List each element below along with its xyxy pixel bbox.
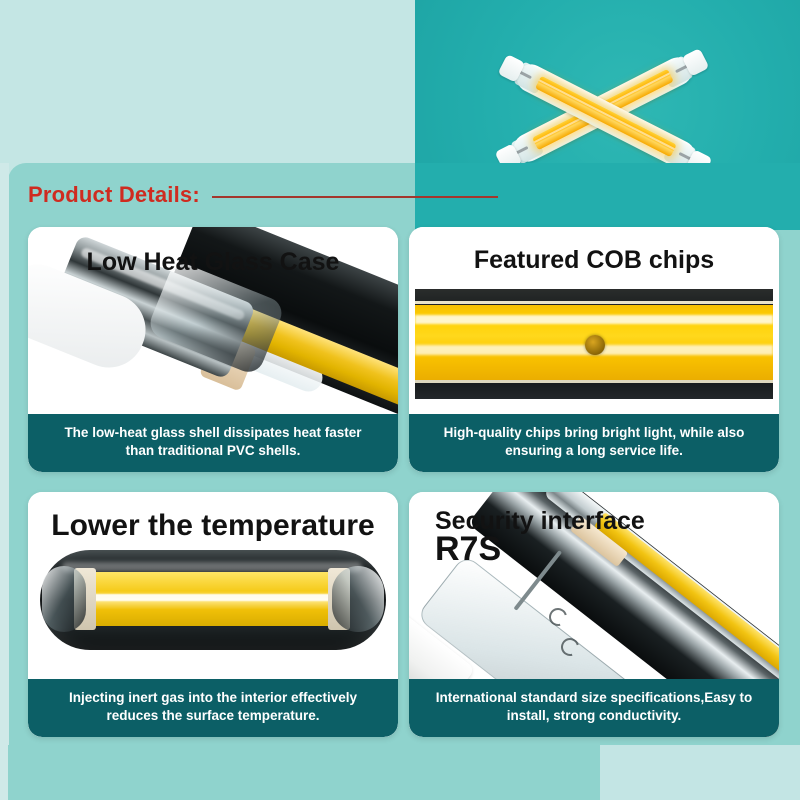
background-left-rail [0, 163, 9, 800]
feature-card-featured-cob-chips[interactable]: Featured COB chips High-quality chips br… [409, 227, 779, 472]
photo-center-mark [585, 335, 605, 355]
photo-tube-end-left [42, 566, 86, 632]
photo-gloss-highlight-upper [415, 315, 773, 324]
page-title: Product Details: [28, 182, 200, 208]
feature-card-caption: The low-heat glass shell dissipates heat… [28, 414, 398, 472]
header-divider-line [212, 196, 498, 198]
photo-filament-core-highlight [86, 594, 336, 601]
feature-card-caption: International standard size specificatio… [409, 679, 779, 737]
feature-card-caption: Injecting inert gas into the interior ef… [28, 679, 398, 737]
feature-card-low-heat-glass-case[interactable]: Low Heat Glass Case The low-heat glass s… [28, 227, 398, 472]
background-bottom-right-block [600, 745, 800, 800]
background-bottom-strip [8, 745, 600, 800]
photo-strip-edge-bottom [415, 380, 773, 383]
feature-card-lower-the-temperature[interactable]: Lower the temperature Injecting inert ga… [28, 492, 398, 737]
photo-strip-edge-top [415, 301, 773, 304]
photo-tube-end-right [332, 566, 384, 632]
feature-card-security-interface-r7s[interactable]: Security interface R7S International sta… [409, 492, 779, 737]
section-header: Product Details: [28, 182, 498, 208]
feature-card-caption: High-quality chips bring bright light, w… [409, 414, 779, 472]
product-details-infographic: Product Details: Low Heat Glass Case The… [0, 0, 800, 800]
